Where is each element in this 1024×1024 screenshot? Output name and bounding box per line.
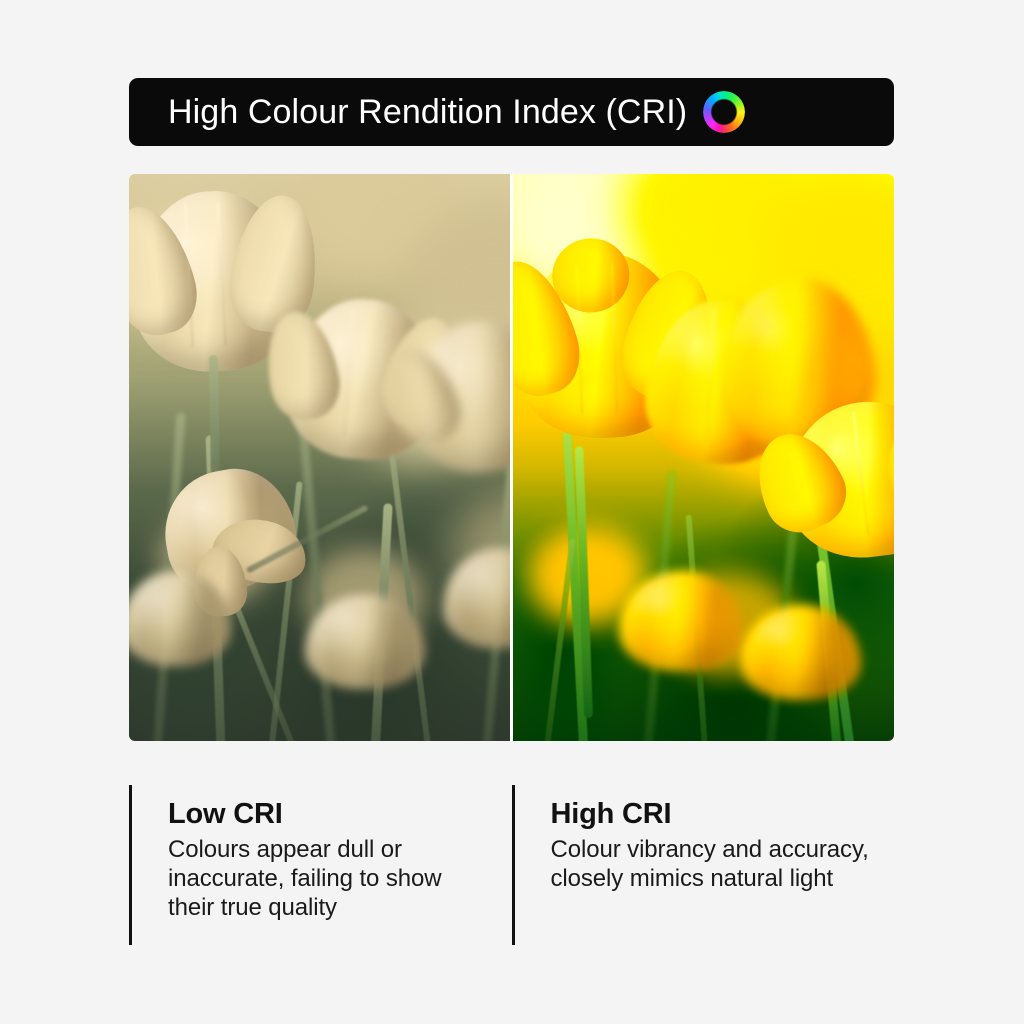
page-title: High Colour Rendition Index (CRI): [168, 95, 687, 129]
tulip-blossom: [404, 315, 511, 479]
caption-body-low-cri: Colours appear dull or inaccurate, faili…: [168, 835, 488, 923]
caption-title-high-cri: High CRI: [551, 799, 895, 831]
colour-wheel-ring-icon: [701, 89, 747, 135]
caption-title-low-cri: Low CRI: [168, 799, 512, 831]
tulip-blossom: [741, 605, 861, 700]
tulip-blossom: [776, 392, 894, 567]
cri-comparison-image: [129, 174, 894, 741]
tulip-blossom: [305, 594, 425, 689]
caption-body-high-cri: Colour vibrancy and accuracy, closely mi…: [551, 835, 871, 894]
caption-rule: [512, 785, 515, 945]
header-bar: High Colour Rendition Index (CRI): [129, 78, 894, 146]
caption-rule: [129, 785, 132, 945]
caption-low-cri: Low CRI Colours appear dull or inaccurat…: [129, 785, 512, 947]
comparison-half-low-cri: [129, 174, 512, 741]
comparison-divider[interactable]: [510, 174, 513, 741]
caption-row: Low CRI Colours appear dull or inaccurat…: [129, 785, 894, 947]
comparison-half-high-cri: [512, 174, 895, 741]
tulip-blossom: [619, 571, 744, 671]
tulip-blossom: [443, 548, 512, 648]
tulip-scene-high: [512, 174, 895, 741]
tulip-scene-low: [129, 174, 512, 741]
tulip-blossom: [129, 571, 231, 666]
caption-high-cri: High CRI Colour vibrancy and accuracy, c…: [512, 785, 895, 947]
